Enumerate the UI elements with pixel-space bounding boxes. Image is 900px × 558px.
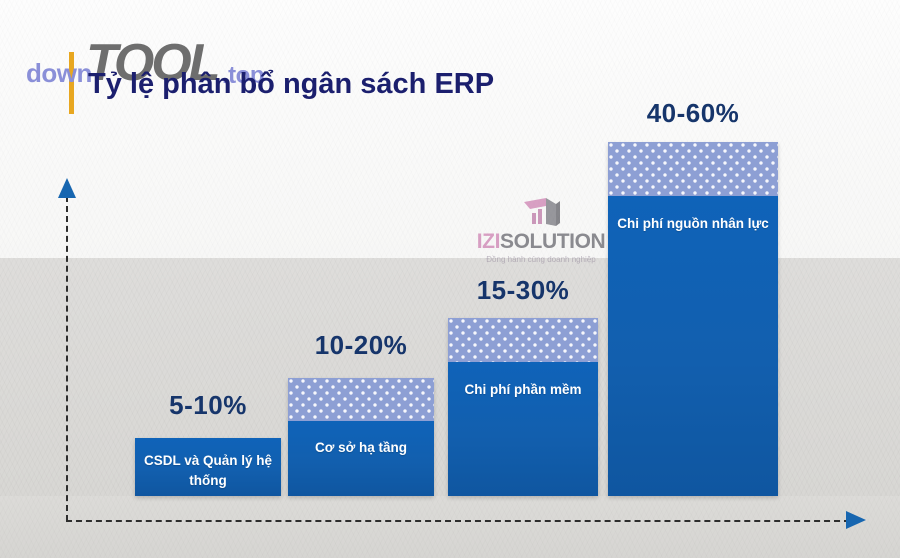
x-axis-arrow-icon bbox=[846, 511, 866, 529]
bar-value-label-2: 10-20% bbox=[288, 330, 434, 361]
bar-1[interactable]: CSDL và Quản lý hệ thống bbox=[135, 438, 281, 496]
chart-title: Tỷ lệ phân bổ ngân sách ERP bbox=[88, 68, 494, 101]
bar-3[interactable]: Chi phí phần mềm bbox=[448, 318, 598, 496]
bar-2-pattern-top bbox=[288, 378, 434, 421]
izisolution-watermark: IZISOLUTION Đồng hành cùng doanh nghiệp bbox=[468, 196, 614, 264]
background-band-lower bbox=[0, 496, 900, 558]
bar-2-solid bbox=[288, 421, 434, 496]
bar-value-label-1: 5-10% bbox=[135, 390, 281, 421]
watermark-prefix-text: down bbox=[26, 58, 92, 89]
y-axis-arrow-icon bbox=[58, 178, 76, 198]
bar-2[interactable]: Cơ sở hạ tầng bbox=[288, 378, 434, 496]
bar-3-pattern-top bbox=[448, 318, 598, 362]
x-axis-line bbox=[66, 520, 850, 522]
izisolution-tagline: Đồng hành cùng doanh nghiệp bbox=[468, 255, 614, 264]
bar-4[interactable]: Chi phí nguồn nhân lực bbox=[608, 142, 778, 496]
y-axis-line bbox=[66, 196, 68, 521]
bar-4-pattern-top bbox=[608, 142, 778, 196]
izisolution-mark-svg bbox=[520, 196, 562, 230]
chart-canvas: down TOOL .top Tỷ lệ phân bổ ngân sách E… bbox=[0, 0, 900, 558]
izisolution-logo-icon bbox=[520, 196, 562, 230]
bar-4-solid bbox=[608, 196, 778, 496]
izisolution-wordmark: IZISOLUTION bbox=[468, 231, 614, 253]
bar-1-label: CSDL và Quản lý hệ thống bbox=[135, 451, 281, 490]
bar-value-label-3: 15-30% bbox=[448, 275, 598, 306]
bar-3-label: Chi phí phần mềm bbox=[448, 380, 598, 400]
bar-4-label: Chi phí nguồn nhân lực bbox=[608, 214, 778, 234]
izisolution-name-part2: SOLUTION bbox=[500, 230, 605, 253]
bar-2-label: Cơ sở hạ tầng bbox=[288, 438, 434, 458]
bar-value-label-4: 40-60% bbox=[608, 98, 778, 129]
izisolution-name-part1: IZI bbox=[477, 230, 500, 253]
